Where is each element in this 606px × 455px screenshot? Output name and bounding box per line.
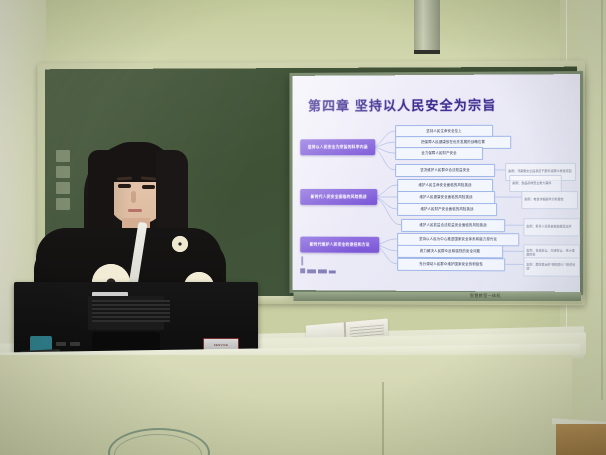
monitor-buttons[interactable] xyxy=(56,342,80,346)
mindmap-branch-2[interactable]: 新时代人民安全面临的风险挑战 xyxy=(300,189,377,205)
sweater-flower-shoulder xyxy=(172,236,188,252)
ceiling-speaker-icon xyxy=(414,0,440,54)
slide-title: 第四章 坚持以人民安全为宗旨 xyxy=(308,95,496,115)
mindmap-note-2-2: 案例：食品药材安全重大事件 xyxy=(509,175,562,192)
presenter-eye-right xyxy=(142,185,155,189)
mindmap-note-3-3: 案例：群防群治的"朝阳群众""枫桥经验" xyxy=(523,257,580,276)
classroom-scene: 第四章 坚持以人民安全为宗旨 坚持以人民安全为宗旨的科学内涵 坚持人民生命安全至… xyxy=(0,0,606,455)
presenter-nose xyxy=(131,191,136,203)
screen-bottom-bezel xyxy=(293,292,581,301)
screen-brand-label: 智慧教室一体机 xyxy=(470,293,501,299)
mindmap-note-2-4: 案例：老年人养老金被骗典型案件 xyxy=(523,218,580,236)
wooden-floor xyxy=(556,424,606,455)
podium-front xyxy=(0,355,572,455)
slide-corner-mark xyxy=(301,256,303,265)
monitor-vent-left xyxy=(92,300,136,322)
mindmap-item-2-3[interactable]: 维护人民财产安全面临的风险挑战 xyxy=(397,203,497,216)
mindmap-item-1-4[interactable]: 坚决维护人民群众合法权益安全 xyxy=(395,164,495,177)
mindmap-item-2-4[interactable]: 维护人民权益合法权益安全面临的风险挑战 xyxy=(401,219,505,232)
back-wall-upper xyxy=(0,0,606,64)
mindmap-branch-3[interactable]: 新时代维护人民安全的途径和方法 xyxy=(300,237,379,253)
presentation-slide: 第四章 坚持以人民安全为宗旨 坚持以人民安全为宗旨的科学内涵 坚持人民生命安全至… xyxy=(292,74,580,292)
blackboard-writing xyxy=(56,150,72,212)
monitor-vent-right xyxy=(134,300,170,322)
presenter-mouth xyxy=(128,209,142,212)
mindmap-item-3-2[interactable]: 着力解决人民群众反映强烈的安全问题 xyxy=(397,245,503,258)
mindmap-note-2-3: 案例：电信诈骗案件分析报告 xyxy=(521,191,578,209)
projection-screen[interactable]: 第四章 坚持以人民安全为宗旨 坚持以人民安全为宗旨的科学内涵 坚持人民生命安全至… xyxy=(292,74,580,292)
mindmap-item-3-3[interactable]: 充分调动人民群众维护国家安全的积极性 xyxy=(397,258,505,272)
mindmap-branch-1[interactable]: 坚持以人民安全为宗旨的科学内涵 xyxy=(300,139,375,155)
wall-corner-seam xyxy=(601,0,603,400)
slide-footer-marks xyxy=(300,268,335,273)
presenter-eye-left xyxy=(118,184,131,188)
mindmap-item-1-3[interactable]: 全力保障人民财产安全 xyxy=(395,147,483,160)
podium-panel-seam xyxy=(382,382,384,455)
